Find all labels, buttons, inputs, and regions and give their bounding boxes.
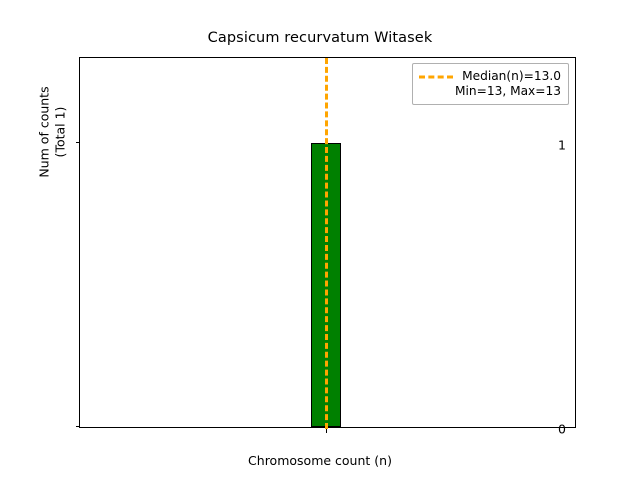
x-axis-label: Chromosome count (n) — [0, 453, 640, 468]
chart-figure: Capsicum recurvatum Witasek 0 1 13 Media… — [0, 0, 640, 480]
legend-entry-minmax: Min=13, Max=13 — [419, 84, 561, 99]
legend-entry-median: Median(n)=13.0 — [419, 69, 561, 84]
legend-label-minmax: Min=13, Max=13 — [419, 84, 561, 99]
y-axis-label: Num of counts (Total 1) — [37, 0, 69, 318]
dashed-line-icon — [419, 71, 453, 83]
plot-area: 0 1 13 Median(n)=13.0 Min=13, Max=13 — [79, 57, 576, 428]
chart-legend: Median(n)=13.0 Min=13, Max=13 — [412, 63, 569, 105]
ytick-mark-0 — [76, 426, 80, 427]
legend-label-median: Median(n)=13.0 — [462, 69, 561, 84]
ytick-label-1: 1 — [558, 138, 566, 153]
ytick-mark-1 — [76, 142, 80, 143]
chart-title: Capsicum recurvatum Witasek — [0, 30, 640, 46]
median-line — [325, 58, 328, 429]
xtick-mark-13 — [326, 429, 327, 433]
ytick-label-0: 0 — [558, 422, 566, 437]
